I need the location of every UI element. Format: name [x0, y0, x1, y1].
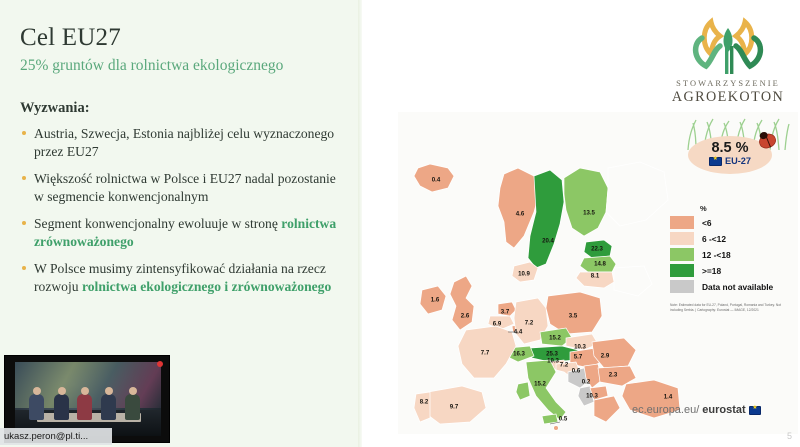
map-region-value: 15.2 — [534, 381, 546, 388]
map-region-value: 10.3 — [574, 344, 586, 351]
map-region-value: 0.5 — [559, 416, 567, 423]
map-region-value: 13.5 — [583, 210, 595, 217]
map-region-value: 22.3 — [591, 246, 603, 253]
map-region-value: 7.2 — [525, 320, 533, 327]
legend-row: 6 -<12 — [670, 232, 796, 245]
map-region-value: 2.9 — [601, 353, 609, 360]
logo-name: AGROEKOTON — [662, 89, 794, 106]
agroekoton-logo: STOWARZYSZENIE AGROEKOTON — [662, 16, 794, 108]
legend-row: <6 — [670, 216, 796, 229]
agroekoton-logo-mark — [662, 16, 794, 78]
bullet-item: Większość rolnictwa w Polsce i EU27 nada… — [20, 170, 345, 206]
video-person — [125, 394, 140, 420]
video-person — [101, 394, 116, 420]
legend-unit-label: % — [700, 204, 796, 213]
legend-row: 12 -<18 — [670, 248, 796, 261]
page-title: Cel EU27 — [20, 24, 121, 52]
map-region-value: 0.6 — [572, 368, 580, 375]
recording-indicator-icon — [157, 361, 163, 367]
plant-leaf-icon — [662, 16, 794, 78]
map-region-value: 14.8 — [594, 261, 606, 268]
eurostat-source[interactable]: ec.europa.eu/eurostat — [632, 404, 761, 416]
map-region-value: 4.4 — [514, 329, 522, 336]
legend-note: Note: Estimated data for EU-27, Poland, … — [670, 303, 782, 313]
map-region-value: 10.3 — [586, 393, 598, 400]
legend-label: 12 -<18 — [702, 250, 731, 260]
eu-flag-icon — [749, 406, 761, 415]
map-region-value: 16.3 — [513, 351, 525, 358]
source-brand: eurostat — [702, 404, 745, 416]
map-region-value: 8.1 — [591, 273, 599, 280]
map-region-value: 6.9 — [493, 321, 501, 328]
page-number: 5 — [787, 431, 792, 441]
legend-swatch — [670, 232, 694, 245]
bullet-text: Austria, Szwecja, Estonia najbliżej celu… — [34, 126, 334, 159]
legend-row: Data not available — [670, 280, 796, 293]
map-region-value: 9.7 — [450, 404, 458, 411]
legend-label: >=18 — [702, 266, 721, 276]
map-region-value: 8.2 — [420, 399, 428, 406]
map-region-value: 4.6 — [516, 211, 524, 218]
legend-label: <6 — [702, 218, 712, 228]
video-person — [29, 394, 44, 420]
page-subtitle: 25% gruntów dla rolnictwa ekologicznego — [20, 57, 283, 75]
legend-swatch — [670, 280, 694, 293]
legend-swatch — [670, 216, 694, 229]
source-url: ec.europa.eu/ — [632, 404, 699, 416]
badge-region-label: EU-27 — [725, 156, 751, 166]
legend-row: >=18 — [670, 264, 796, 277]
map-region-value: 2.3 — [609, 372, 617, 379]
map-region-value: 10.3 — [547, 358, 559, 365]
map-region-value: 25.3 — [546, 351, 558, 358]
map-region-value: 15.2 — [549, 335, 561, 342]
map-region-value: 2.6 — [461, 313, 469, 320]
legend-label: Data not available — [702, 282, 773, 292]
map-region-value: 7.2 — [560, 362, 568, 369]
right-content-area: STOWARZYSZENIE AGROEKOTON Organic farmin… — [362, 0, 800, 447]
bullet-text: Większość rolnictwa w Polsce i EU27 nada… — [34, 171, 336, 204]
eu-flag-icon — [709, 157, 722, 166]
section-heading: Wyzwania: — [20, 100, 90, 117]
bullet-highlight-text: rolnictwa ekologicznego i zrównoważonego — [82, 279, 331, 294]
video-frame — [15, 362, 161, 436]
legend-label: 6 -<12 — [702, 234, 726, 244]
video-person — [77, 394, 92, 420]
bullet-item: Segment konwencjonalny ewoluuje w stronę… — [20, 215, 345, 251]
map-region-value: 5.7 — [574, 354, 582, 361]
bullet-item: Austria, Szwecja, Estonia najbliżej celu… — [20, 125, 345, 161]
video-person — [54, 394, 69, 420]
map-region-value: 1.4 — [664, 394, 672, 401]
map-region-value: 0.4 — [432, 177, 440, 184]
map-legend: % <66 -<1212 -<18>=18Data not available … — [670, 204, 796, 313]
badge-region-row: EU-27 — [688, 156, 772, 166]
logo-subtitle: STOWARZYSZENIE — [662, 79, 794, 88]
map-region-value: 7.7 — [481, 350, 489, 357]
bullet-text: Segment konwencjonalny ewoluuje w stronę — [34, 216, 281, 231]
map-region-value: 0.2 — [582, 379, 590, 386]
map-value-labels: 0.44.620.413.522.314.88.110.91.62.63.76.… — [400, 116, 680, 434]
map-region-value: 1.6 — [431, 297, 439, 304]
map-region-value: 20.4 — [542, 238, 554, 245]
video-caption-label: ukasz.peron@pl.ti... — [0, 428, 112, 445]
slide: Cel EU27 25% gruntów dla rolnictwa ekolo… — [0, 0, 800, 447]
bullet-item: W Polsce musimy zintensyfikować działani… — [20, 260, 345, 296]
map-region-value: 10.9 — [518, 271, 530, 278]
map-region-value: 3.7 — [501, 309, 509, 316]
organic-farming-map-card: Organic farming area (% of organic area … — [398, 112, 798, 434]
map-region-value: 3.5 — [569, 313, 577, 320]
legend-swatch — [670, 248, 694, 261]
bullet-list: Austria, Szwecja, Estonia najbliżej celu… — [20, 125, 345, 305]
left-content-panel: Cel EU27 25% gruntów dla rolnictwa ekolo… — [0, 0, 360, 447]
legend-swatch — [670, 264, 694, 277]
